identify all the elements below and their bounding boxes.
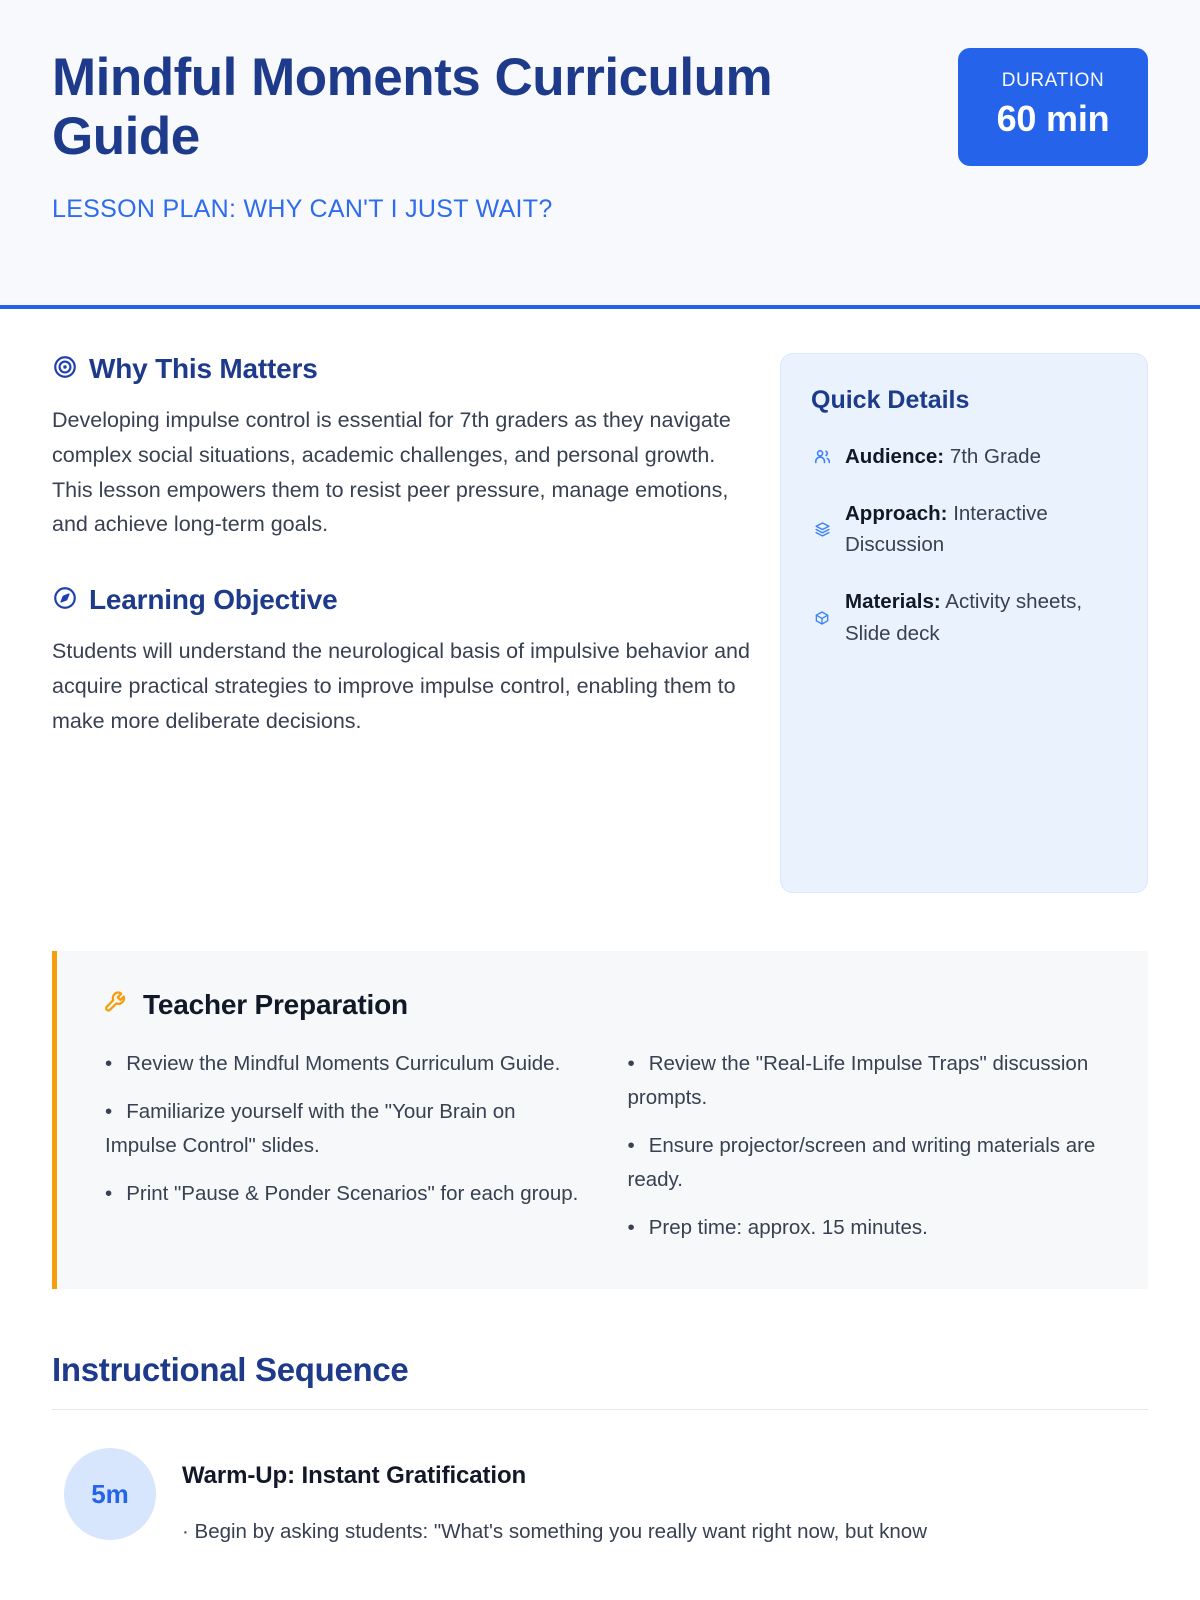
sequence-step-warm-up: 5m Warm-Up: Instant Gratification · Begi… — [52, 1448, 1148, 1549]
instructional-sequence-title: Instructional Sequence — [52, 1351, 1148, 1410]
list-item-text: Familiarize yourself with the "Your Brai… — [105, 1100, 516, 1157]
page-title: Mindful Moments Curriculum Guide — [52, 48, 912, 167]
teacher-preparation-header: Teacher Preparation — [103, 989, 1106, 1021]
header-text-group: Mindful Moments Curriculum Guide LESSON … — [52, 48, 958, 224]
bullet-marker: • — [628, 1216, 635, 1239]
duration-value: 60 min — [984, 98, 1122, 140]
quick-detail-approach-text: Approach: Interactive Discussion — [845, 498, 1117, 560]
learning-objective-text: Students will understand the neurologica… — [52, 634, 752, 738]
quick-details-card: Quick Details Audience: 7th Grade — [780, 353, 1148, 893]
bullet-marker: • — [105, 1182, 112, 1205]
page-subtitle: LESSON PLAN: WHY CAN'T I JUST WAIT? — [52, 195, 934, 224]
step-detail-text: · Begin by asking students: "What's some… — [182, 1516, 1148, 1549]
overview-main-column: Why This Matters Developing impulse cont… — [52, 353, 752, 739]
quick-detail-materials-label: Materials: — [845, 590, 941, 613]
overview-grid: Why This Matters Developing impulse cont… — [52, 353, 1148, 893]
list-item: •Prep time: approx. 15 minutes. — [626, 1211, 1107, 1245]
learning-objective-header: Learning Objective — [52, 584, 752, 616]
bullet-marker: • — [628, 1134, 635, 1157]
quick-detail-materials: Materials: Activity sheets, Slide deck — [811, 586, 1117, 648]
quick-detail-materials-text: Materials: Activity sheets, Slide deck — [845, 586, 1117, 648]
list-item-text: Ensure projector/screen and writing mate… — [628, 1134, 1096, 1191]
quick-detail-approach: Approach: Interactive Discussion — [811, 498, 1117, 560]
list-item-text: Prep time: approx. 15 minutes. — [649, 1216, 928, 1239]
document-body: Why This Matters Developing impulse cont… — [0, 309, 1200, 1549]
users-icon — [811, 447, 833, 466]
list-item-text: Print "Pause & Ponder Scenarios" for eac… — [126, 1182, 578, 1205]
list-item: •Review the Mindful Moments Curriculum G… — [103, 1047, 584, 1081]
compass-icon — [52, 585, 78, 616]
quick-detail-audience-text: Audience: 7th Grade — [845, 441, 1041, 472]
step-title: Warm-Up: Instant Gratification — [182, 1462, 1148, 1490]
wrench-icon — [103, 989, 130, 1021]
quick-details-title: Quick Details — [811, 386, 1117, 415]
quick-detail-audience-value: 7th Grade — [950, 445, 1041, 468]
bullet-marker: • — [105, 1052, 112, 1075]
quick-detail-audience: Audience: 7th Grade — [811, 441, 1117, 472]
why-this-matters-header: Why This Matters — [52, 353, 752, 385]
list-item: •Print "Pause & Ponder Scenarios" for ea… — [103, 1177, 584, 1211]
layers-icon — [811, 521, 833, 538]
target-icon — [52, 354, 78, 385]
list-item: •Ensure projector/screen and writing mat… — [626, 1129, 1107, 1197]
learning-objective-title: Learning Objective — [89, 584, 337, 616]
step-duration-badge: 5m — [64, 1448, 156, 1540]
document-header: Mindful Moments Curriculum Guide LESSON … — [0, 0, 1200, 309]
teacher-preparation-left-column: •Review the Mindful Moments Curriculum G… — [103, 1047, 584, 1245]
bullet-marker: • — [105, 1100, 112, 1123]
bullet-marker: • — [628, 1052, 635, 1075]
instructional-sequence-section: Instructional Sequence 5m Warm-Up: Insta… — [52, 1351, 1148, 1549]
why-this-matters-text: Developing impulse control is essential … — [52, 403, 752, 542]
teacher-preparation-title: Teacher Preparation — [143, 989, 408, 1021]
quick-detail-audience-label: Audience: — [845, 445, 944, 468]
overview-side-column: Quick Details Audience: 7th Grade — [780, 353, 1148, 893]
why-this-matters-title: Why This Matters — [89, 353, 318, 385]
teacher-preparation-columns: •Review the Mindful Moments Curriculum G… — [103, 1047, 1106, 1245]
package-icon — [811, 610, 833, 626]
teacher-preparation-panel: Teacher Preparation •Review the Mindful … — [52, 951, 1148, 1289]
quick-detail-approach-label: Approach: — [845, 502, 948, 525]
duration-badge: DURATION 60 min — [958, 48, 1148, 166]
list-item: •Review the "Real-Life Impulse Traps" di… — [626, 1047, 1107, 1115]
list-item: •Familiarize yourself with the "Your Bra… — [103, 1095, 584, 1163]
step-content: Warm-Up: Instant Gratification · Begin b… — [182, 1448, 1148, 1549]
list-item-text: Review the "Real-Life Impulse Traps" dis… — [628, 1052, 1089, 1109]
duration-label: DURATION — [984, 70, 1122, 92]
teacher-preparation-right-column: •Review the "Real-Life Impulse Traps" di… — [626, 1047, 1107, 1245]
section-spacer — [52, 542, 752, 584]
list-item-text: Review the Mindful Moments Curriculum Gu… — [126, 1052, 560, 1075]
